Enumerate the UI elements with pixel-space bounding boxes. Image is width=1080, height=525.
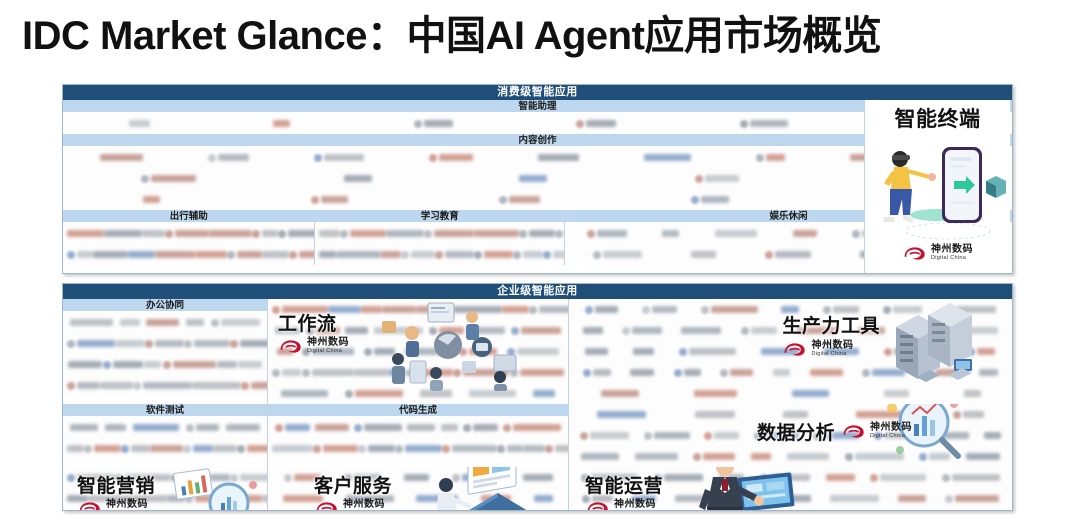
vendor-logo-placeholder (302, 369, 354, 377)
vendor-logo-placeholder (340, 230, 386, 238)
brand-name-en: Digital China (870, 434, 912, 440)
vendor-logo-placeholder (503, 424, 561, 432)
vendor-logo-placeholder (262, 251, 289, 258)
vendor-logo-placeholder (984, 432, 1001, 439)
brand-name-cn: 神州数码 (614, 500, 656, 510)
logo-band-code-generation (268, 417, 568, 459)
digital-china-logo: 神州数码 Digital China (278, 338, 349, 355)
vendor-logo-placeholder (211, 319, 260, 327)
vendor-logo-placeholder (810, 369, 843, 376)
workflow-people-collage-icon (376, 299, 526, 391)
callout-smart-terminal: 智能终端 (864, 100, 1010, 273)
vendor-logo-placeholder (787, 453, 829, 460)
vendor-logo-placeholder (701, 306, 758, 314)
vendor-logo-placeholder (538, 154, 579, 161)
vendor-logo-placeholder (773, 369, 790, 376)
vendor-logo-placeholder (133, 424, 179, 431)
vendor-logo-placeholder (884, 390, 909, 397)
vendor-logo-placeholder (67, 230, 104, 237)
vendor-logo-placeholder (966, 453, 1000, 460)
vendor-logo-placeholder (281, 390, 328, 397)
vendor-logo-placeholder (635, 453, 678, 460)
vendor-logo-placeholder (740, 120, 788, 128)
vendor-logo-placeholder (67, 251, 93, 259)
brand-name-en: Digital China (307, 349, 349, 355)
brand-name-cn: 神州数码 (343, 500, 385, 510)
vendor-logo-placeholder (679, 348, 736, 356)
vendor-logo-placeholder (146, 319, 179, 326)
vendor-logo-placeholder (420, 390, 452, 397)
vendor-logo-placeholder (576, 120, 616, 128)
vendor-logo-placeholder (715, 230, 757, 237)
vendor-logo-placeholder (226, 424, 260, 431)
brand-name-cn: 神州数码 (931, 245, 973, 255)
vendor-logo-placeholder (441, 424, 458, 431)
subsection-header-software-testing: 软件测试 (63, 404, 267, 417)
vendor-logo-placeholder (674, 369, 701, 377)
vendor-logo-placeholder (311, 196, 348, 204)
vendor-logo-placeholder (155, 251, 195, 258)
vendor-logo-placeholder (289, 251, 315, 259)
vendor-logo-placeholder (691, 196, 729, 204)
vendor-logo-placeholder (497, 445, 523, 453)
callout-productivity-tools: 生产力工具 神州数码 Digital China (782, 311, 880, 358)
vendor-logo-placeholder (756, 154, 785, 162)
vendor-logo-placeholder (945, 495, 999, 503)
vendor-logo-placeholder (143, 196, 160, 203)
vendor-logo-placeholder (741, 327, 777, 335)
vendor-logo-placeholder (68, 361, 102, 368)
vendor-logo-placeholder (499, 196, 540, 204)
brand-name-cn: 神州数码 (811, 341, 853, 351)
vendor-logo-placeholder (793, 230, 817, 237)
digital-china-swoosh-icon (278, 338, 304, 355)
vendor-logo-placeholder (93, 251, 128, 258)
vendor-logo-placeholder (401, 251, 435, 259)
column-data-analysis: 数据分析 神州数码 Digital China (569, 404, 1012, 467)
vendor-logo-placeholder (765, 251, 811, 259)
vendor-logo-placeholder (252, 230, 278, 238)
vendor-logo-placeholder (272, 445, 313, 452)
vendor-logo-placeholder (272, 369, 301, 377)
vendor-logo-placeholder (704, 432, 739, 440)
digital-china-logo: 神州数码 Digital China (314, 500, 385, 511)
vendor-logo-placeholder (209, 230, 252, 237)
vendor-logo-placeholder (642, 306, 677, 314)
vendor-logo-placeholder (585, 306, 618, 314)
vendor-logo-placeholder (543, 251, 564, 259)
vendor-logo-placeholder (150, 445, 183, 452)
vendor-logo-placeholder (183, 445, 213, 453)
logo-row (63, 417, 267, 438)
vendor-logo-placeholder (435, 251, 474, 259)
vendor-logo-placeholder (208, 154, 249, 162)
vendor-logo-placeholder (513, 251, 543, 259)
vendor-logo-placeholder (601, 390, 639, 397)
callout-title-customer-service: 客户服务 (314, 471, 392, 498)
vendor-logo-placeholder (414, 120, 453, 128)
vendor-logo-placeholder (67, 445, 84, 452)
vendor-logo-placeholder (751, 453, 771, 460)
digital-china-swoosh-icon (902, 245, 928, 262)
vendor-logo-placeholder (583, 327, 603, 334)
enterprise-applications-panel: 企业级智能应用 办公协同 工作流 (62, 283, 1013, 511)
logo-row (63, 312, 267, 333)
vendor-logo-placeholder (695, 411, 735, 418)
vendor-logo-placeholder (195, 251, 227, 258)
person-laptop-dashboard-icon (420, 467, 532, 511)
digital-china-swoosh-icon (585, 500, 611, 511)
brand-name-en: Digital China (931, 256, 973, 262)
vendor-logo-placeholder (213, 445, 237, 452)
enterprise-section-header: 企业级智能应用 (63, 284, 1012, 299)
logo-band-learning-education (315, 223, 563, 265)
callout-data-analysis: 数据分析 神州数码 Digital China (757, 418, 912, 445)
vendor-logo-placeholder (70, 424, 98, 431)
vendor-logo-placeholder (407, 424, 435, 431)
column-learning-education: 学习教育 (315, 210, 564, 265)
vendor-logo-placeholder (186, 319, 204, 326)
vendor-logo-placeholder (694, 390, 737, 397)
vendor-logo-placeholder (184, 340, 230, 348)
vendor-logo-placeholder (115, 340, 145, 347)
logo-row (63, 375, 267, 396)
digital-china-logo: 神州数码 Digital China (585, 500, 656, 511)
callout-title-smart-operations: 智能运营 (585, 471, 663, 498)
vendor-logo-placeholder (691, 251, 716, 258)
vendor-logo-placeholder (230, 340, 268, 348)
vendor-logo-placeholder (442, 445, 497, 453)
page-title: IDC Market Glance：中国AI Agent应用市场概览 (22, 14, 1062, 58)
vendor-logo-placeholder (186, 424, 219, 432)
vendor-logo-placeholder (319, 230, 340, 237)
vendor-logo-placeholder (104, 230, 142, 237)
vendor-logo-placeholder (593, 251, 642, 259)
vendor-logo-placeholder (192, 382, 241, 389)
brand-name-cn: 神州数码 (307, 338, 349, 348)
digital-china-swoosh-icon (841, 423, 867, 440)
vendor-logo-placeholder (474, 230, 519, 237)
vendor-logo-placeholder (555, 230, 564, 238)
vendor-logo-placeholder (70, 319, 113, 326)
vendor-logo-placeholder (695, 175, 739, 183)
vendor-logo-placeholder (681, 327, 721, 334)
vendor-logo-placeholder (630, 369, 654, 376)
vendor-logo-placeholder (463, 424, 498, 432)
vendor-logo-placeholder (381, 251, 401, 258)
subsection-header-travel-assist: 出行辅助 (63, 210, 314, 223)
vendor-logo-placeholder (581, 453, 619, 460)
person-with-smartphone-ar-icon (870, 133, 1006, 245)
vendor-logo-placeholder (121, 445, 150, 453)
callout-workflow: 工作流 神州数码 Digital China (278, 309, 349, 355)
vendor-logo-placeholder (319, 251, 336, 258)
vendor-logo-placeholder (585, 348, 608, 355)
vendor-logo-placeholder (100, 154, 143, 161)
callout-title-smart-marketing: 智能营销 (77, 471, 155, 498)
vendor-logo-placeholder (227, 251, 262, 259)
vendor-logo-placeholder (67, 382, 100, 390)
logo-band-travel-assist (63, 223, 314, 265)
callout-smart-operations: 智能运营 神州数码 Digital China (585, 471, 663, 511)
vendor-logo-placeholder (587, 230, 627, 238)
enterprise-row-3: 智能营销 神州数码 Digital China (63, 467, 1012, 511)
server-racks-isometric-icon (876, 301, 994, 387)
consumer-section-header: 消费级智能应用 (63, 85, 1012, 100)
logo-band-software-testing (63, 417, 267, 459)
vendor-logo-placeholder (275, 424, 310, 432)
brand-name-cn: 神州数码 (870, 423, 912, 433)
vendor-logo-placeholder (386, 230, 424, 237)
digital-china-logo: 神州数码 Digital China (77, 500, 148, 511)
vendor-logo-placeholder (395, 445, 442, 453)
vendor-logo-placeholder (100, 382, 133, 389)
vendor-logo-placeholder (469, 390, 516, 397)
callout-title-productivity-tools: 生产力工具 (782, 311, 880, 338)
logo-row (63, 244, 314, 265)
vendor-logo-placeholder (133, 382, 192, 390)
subsection-header-learning-education: 学习教育 (315, 210, 563, 223)
vendor-logo-placeholder (898, 495, 926, 502)
vendor-logo-placeholder (163, 361, 216, 369)
vendor-logo-placeholder (519, 230, 555, 238)
vendor-logo-placeholder (358, 445, 395, 453)
column-travel-assist: 出行辅助 (63, 210, 315, 265)
vendor-logo-placeholder (597, 411, 646, 418)
vendor-logo-placeholder (545, 445, 569, 453)
vendor-logo-placeholder (129, 120, 150, 127)
vendor-logo-placeholder (720, 369, 753, 377)
vendor-logo-placeholder (529, 306, 569, 314)
vendor-logo-placeholder (519, 175, 547, 182)
vendor-logo-placeholder (662, 230, 679, 237)
vendor-logo-placeholder (870, 474, 926, 482)
vendor-logo-placeholder (67, 340, 115, 348)
digital-china-swoosh-icon (77, 500, 103, 511)
vendor-logo-placeholder (429, 154, 473, 162)
vendor-logo-placeholder (533, 390, 555, 397)
vendor-logo-placeholder (633, 348, 654, 355)
callout-customer-service: 客户服务 神州数码 Digital China (314, 471, 392, 511)
logo-row (268, 417, 568, 438)
logo-row (63, 438, 267, 459)
vendor-logo-placeholder (241, 382, 268, 390)
businessman-tophat-tablet-icon (687, 467, 805, 511)
logo-row (268, 438, 568, 459)
column-office-collaboration: 办公协同 (63, 299, 268, 404)
subsection-header-office-collaboration: 办公协同 (63, 299, 267, 312)
vendor-logo-placeholder (644, 432, 690, 440)
vendor-logo-placeholder (693, 453, 735, 461)
vendor-logo-placeholder (278, 230, 315, 238)
vendor-logo-placeholder (165, 230, 209, 238)
brand-name-en: Digital China (811, 352, 853, 358)
consumer-applications-panel: 消费级智能应用 智能助理 内容创作 出行辅助 学习教育 娱乐休闲 (62, 84, 1013, 274)
logo-row (63, 333, 267, 354)
logo-row (63, 223, 314, 244)
vendor-logo-placeholder (314, 154, 364, 162)
vendor-logo-placeholder (128, 251, 155, 258)
vendor-logo-placeholder (622, 327, 662, 335)
vendor-logo-placeholder (942, 474, 1000, 482)
column-smart-operations: 应用生成 智能运营 神州数码 Digital China (569, 467, 1012, 511)
vendor-logo-placeholder (826, 474, 855, 481)
vendor-logo-placeholder (141, 175, 196, 183)
logo-row (63, 354, 267, 375)
callout-title-workflow: 工作流 (278, 309, 337, 336)
vendor-logo-placeholder (580, 432, 629, 440)
column-smart-marketing: 智能营销 神州数码 Digital China (63, 467, 268, 511)
vendor-logo-placeholder (145, 340, 184, 348)
vendor-logo-placeholder (583, 369, 611, 377)
logo-row (315, 223, 563, 244)
vendor-logo-placeholder (534, 495, 553, 502)
vendor-logo-placeholder (120, 319, 140, 326)
vendor-logo-placeholder (103, 361, 143, 369)
column-productivity-tools: 生产力工具 神州数码 Digital China (569, 299, 1012, 404)
vendor-logo-placeholder (783, 411, 808, 418)
enterprise-row-1: 办公协同 工作流 (63, 299, 1012, 404)
subsection-header-code-generation: 代码生成 (268, 404, 568, 417)
vendor-logo-placeholder (237, 445, 268, 453)
vendor-logo-placeholder (354, 424, 402, 432)
callout-smart-marketing: 智能营销 神州数码 Digital China (77, 471, 155, 511)
vendor-logo-placeholder (964, 390, 981, 397)
vendor-logo-placeholder (792, 390, 829, 397)
vendor-logo-placeholder (830, 495, 879, 502)
vendor-logo-placeholder (315, 424, 349, 431)
vendor-logo-placeholder (474, 251, 513, 259)
vendor-logo-placeholder (344, 175, 372, 182)
callout-title-data-analysis: 数据分析 (757, 418, 835, 445)
logo-row (315, 244, 563, 265)
vendor-logo-placeholder (217, 361, 237, 368)
vendor-logo-placeholder (313, 445, 358, 453)
brand-name-cn: 神州数码 (106, 500, 148, 510)
callout-title-smart-terminal: 智能终端 (895, 103, 981, 133)
vendor-logo-placeholder (142, 230, 165, 237)
magnifier-bar-charts-icon (167, 467, 263, 511)
vendor-logo-placeholder (523, 445, 545, 452)
column-code-generation: 代码生成 (268, 404, 569, 467)
digital-china-logo: 神州数码 Digital China (841, 423, 912, 440)
digital-china-logo: 神州数码 Digital China (902, 245, 973, 262)
column-workflow: 工作流 神州数码 Digital China (268, 299, 569, 404)
logo-band-office-collaboration (63, 312, 267, 396)
vendor-logo-placeholder (424, 230, 474, 238)
digital-china-swoosh-icon (782, 341, 808, 358)
column-customer-service: 安全 客户服务 神州数码 Digital China (268, 467, 569, 511)
vendor-logo-placeholder (644, 154, 691, 161)
vendor-logo-placeholder (105, 424, 126, 431)
digital-china-swoosh-icon (314, 500, 340, 511)
digital-china-logo: 神州数码 Digital China (782, 341, 853, 358)
vendor-logo-placeholder (144, 361, 161, 368)
vendor-logo-placeholder (273, 120, 290, 127)
vendor-logo-placeholder (84, 445, 121, 453)
vendor-logo-placeholder (238, 361, 262, 368)
enterprise-row-2: 软件测试 代码生成 数据分析 (63, 404, 1012, 467)
vendor-logo-placeholder (336, 251, 381, 258)
column-software-testing: 软件测试 (63, 404, 268, 467)
